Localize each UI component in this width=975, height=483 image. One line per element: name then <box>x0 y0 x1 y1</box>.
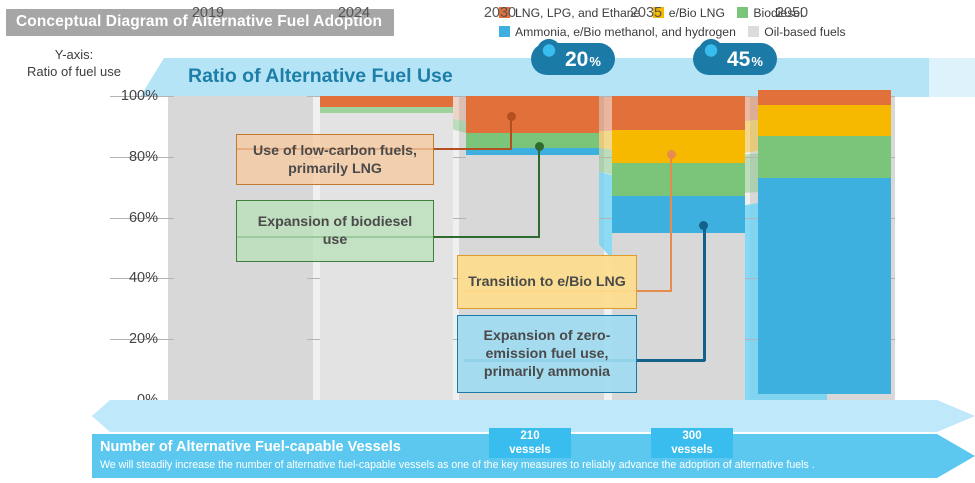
bar-2035-seg-lng <box>612 96 745 130</box>
y-tick-80: 80% <box>96 149 158 165</box>
bar-2035-seg-biodiesel <box>612 163 745 196</box>
x-tick-2019: 2019 <box>148 5 268 21</box>
vessel-chip-2035-number: 300 <box>651 429 733 443</box>
alt-fuel-share-pin-2030-value: 20 <box>565 49 588 70</box>
bar-2050-seg-lng <box>758 90 891 105</box>
leader-dot-biodiesel <box>535 142 544 151</box>
leader-line-low-carbon-v <box>510 116 512 150</box>
leader-line-biodiesel-v <box>538 146 540 238</box>
y-axis-caption-line2: Ratio of fuel use <box>10 63 138 80</box>
vessel-chip-2035-unit: vessels <box>651 443 733 457</box>
x-tick-2024: 2024 <box>294 5 414 21</box>
alt-fuel-share-pin-2035: 45 % <box>693 43 777 75</box>
alt-fuel-share-pin-2035-unit: % <box>751 55 763 68</box>
vessel-chip-2035: 300 vessels <box>651 428 733 458</box>
legend-label-ammonia: Ammonia, e/Bio methanol, and hydrogen <box>515 25 736 39</box>
bar-2050-seg-ebio-lng <box>758 105 891 135</box>
legend-swatch-oil <box>748 26 759 37</box>
alt-fuel-share-pin-2035-value: 45 <box>727 49 750 70</box>
bar-2035-seg-ammonia <box>612 196 745 233</box>
leader-dot-ammonia <box>699 221 708 230</box>
legend-label-oil: Oil-based fuels <box>764 25 845 39</box>
vessel-count-subtitle: We will steadily increase the number of … <box>100 459 815 471</box>
y-tick-20: 20% <box>96 331 158 347</box>
callout-biodiesel: Expansion of biodiesel use <box>236 200 434 262</box>
x-tick-2050: 2050 <box>732 5 852 21</box>
vessel-chip-2030-number: 210 <box>489 429 571 443</box>
bar-2030-seg-lng <box>466 96 599 133</box>
bar-2050-seg-biodiesel <box>758 136 891 179</box>
ratio-ribbon-tip <box>929 58 975 97</box>
alt-fuel-share-pin-2030-unit: % <box>589 55 601 68</box>
ratio-ribbon-label: Ratio of Alternative Fuel Use <box>188 65 453 88</box>
callout-zero-emission: Expansion of zero-emission fuel use, pri… <box>457 315 637 393</box>
bar-2024-seg-lng <box>320 96 453 107</box>
leader-line-ebio-lng-v <box>670 154 672 292</box>
vessel-chip-2030: 210 vessels <box>489 428 571 458</box>
vessel-chip-2030-unit: vessels <box>489 443 571 457</box>
bar-2030-seg-biodiesel <box>466 133 599 148</box>
bar-2035-seg-ebio-lng <box>612 130 745 163</box>
y-axis-caption: Y-axis: Ratio of fuel use <box>10 46 138 80</box>
y-tick-40: 40% <box>96 270 158 286</box>
y-tick-100: 100% <box>96 88 158 104</box>
x-tick-2030: 2030 <box>440 5 560 21</box>
alt-fuel-share-pin-2030: 20 % <box>531 43 615 75</box>
x-tick-2035: 2035 <box>586 5 706 21</box>
leader-line-ammonia-v <box>703 225 706 361</box>
vessel-count-title: Number of Alternative Fuel-capable Vesse… <box>100 439 401 455</box>
callout-ebio-lng-text: Transition to e/Bio LNG <box>468 273 626 291</box>
callout-low-carbon-fuels-text: Use of low-carbon fuels, primarily LNG <box>245 142 425 178</box>
legend-item-oil: Oil-based fuels <box>748 23 845 41</box>
bar-2024-seg-biodiesel <box>320 107 453 113</box>
bar-2050-seg-ammonia <box>758 178 891 394</box>
y-tick-60: 60% <box>96 210 158 226</box>
map-pin-icon <box>537 39 561 73</box>
bar-2050 <box>758 96 891 400</box>
callout-biodiesel-text: Expansion of biodiesel use <box>245 213 425 249</box>
callout-zero-emission-text: Expansion of zero-emission fuel use, pri… <box>466 327 628 381</box>
map-pin-icon <box>699 39 723 73</box>
legend-swatch-ammonia <box>499 26 510 37</box>
callout-low-carbon-fuels: Use of low-carbon fuels, primarily LNG <box>236 134 434 185</box>
leader-dot-ebio-lng <box>667 150 676 159</box>
y-axis-caption-line1: Y-axis: <box>10 46 138 63</box>
callout-ebio-lng: Transition to e/Bio LNG <box>457 255 637 309</box>
leader-dot-low-carbon <box>507 112 516 121</box>
